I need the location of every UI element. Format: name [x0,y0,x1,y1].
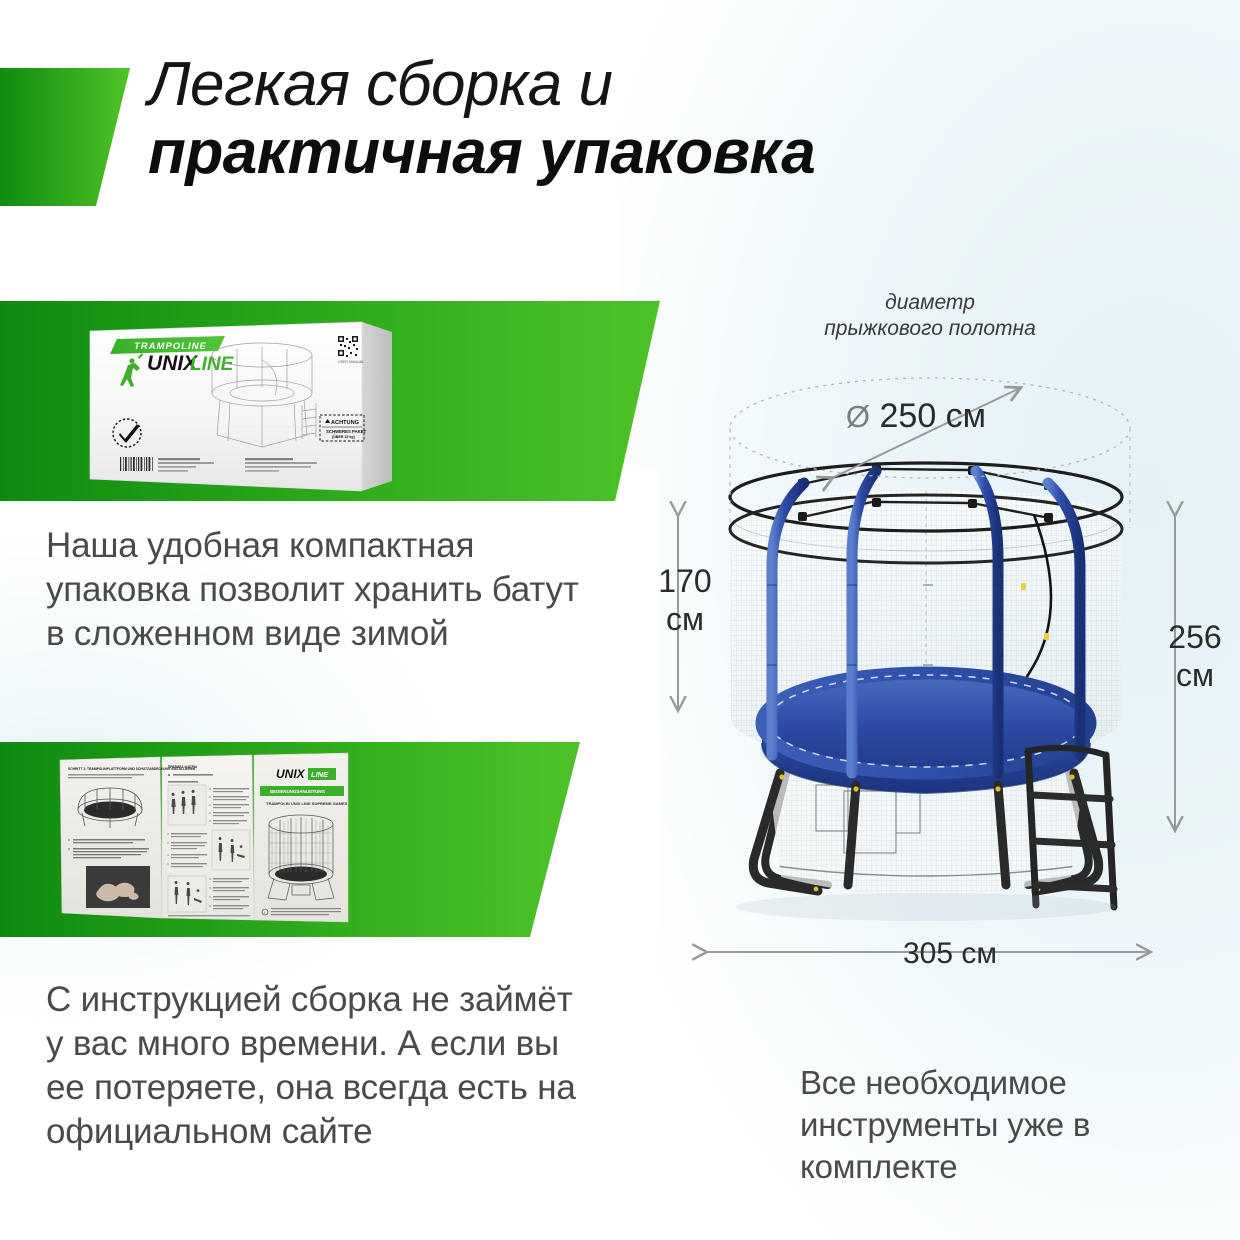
height-net-label: 170 см [650,562,720,638]
height-total-value: 256 [1160,618,1230,656]
manual-cover-band: BEDIENUNGSANLEITUNG [270,789,325,794]
box-warning-line1: SCHWERES PAKET [326,429,367,434]
height-net-value: 170 [650,562,720,600]
manual-brand-unix: UNIX [276,767,306,781]
diameter-note-line1: диаметр [800,290,1060,316]
box-banner-label: TRAMPOLINE [134,341,207,352]
box-qr-code [338,336,358,357]
height-total-unit: см [1160,656,1230,694]
diameter-note-line2: прыжкового полотна [800,316,1060,342]
diameter-value: 250 см [880,397,987,435]
manual-cover-subtitle: TRAMPOLIN UNIX LINE SUPREME GAMES [266,801,348,806]
box-qr-caption: USER MANUAL [338,360,364,364]
packaging-caption: Наша удобная компактная упаковка позволи… [46,524,606,656]
box-warning-title: ACHTUNG [331,420,359,426]
manual-image: SCHRITT 1: TRAMPOLINPLATTFORM UND SCHUTZ… [52,748,452,926]
manual-page2-heading: ПРАВИЛА И ИГРЫ [168,765,197,769]
title-line-1: Легкая сборка и [148,52,1008,118]
width-label: 305 см [870,936,1030,972]
title-line-2: практичная упаковка [148,118,1008,188]
diameter-note: диаметр прыжкового полотна [800,290,1060,342]
height-total-label: 256 см [1160,618,1230,694]
page-title: Легкая сборка и практичная упаковка [148,52,1008,188]
tools-caption: Все необходимое инструменты уже в компле… [800,1062,1200,1188]
height-net-unit: см [650,600,720,638]
manual-brand-line: LINE [311,770,329,779]
infographic-page: Легкая сборка и практичная упаковка [0,0,1240,1240]
diameter-symbol: Ø [846,399,870,434]
title-accent-shape [0,68,130,206]
manual-caption: С инструкцией сборка не займёт у вас мно… [46,978,586,1154]
box-warning-line2: (ÜBER 15 kg) [332,434,356,439]
diameter-value-label: Ø 250 см [826,396,1006,437]
packaging-box-image: TRAMPOLINE UNIX LINE [70,305,490,500]
